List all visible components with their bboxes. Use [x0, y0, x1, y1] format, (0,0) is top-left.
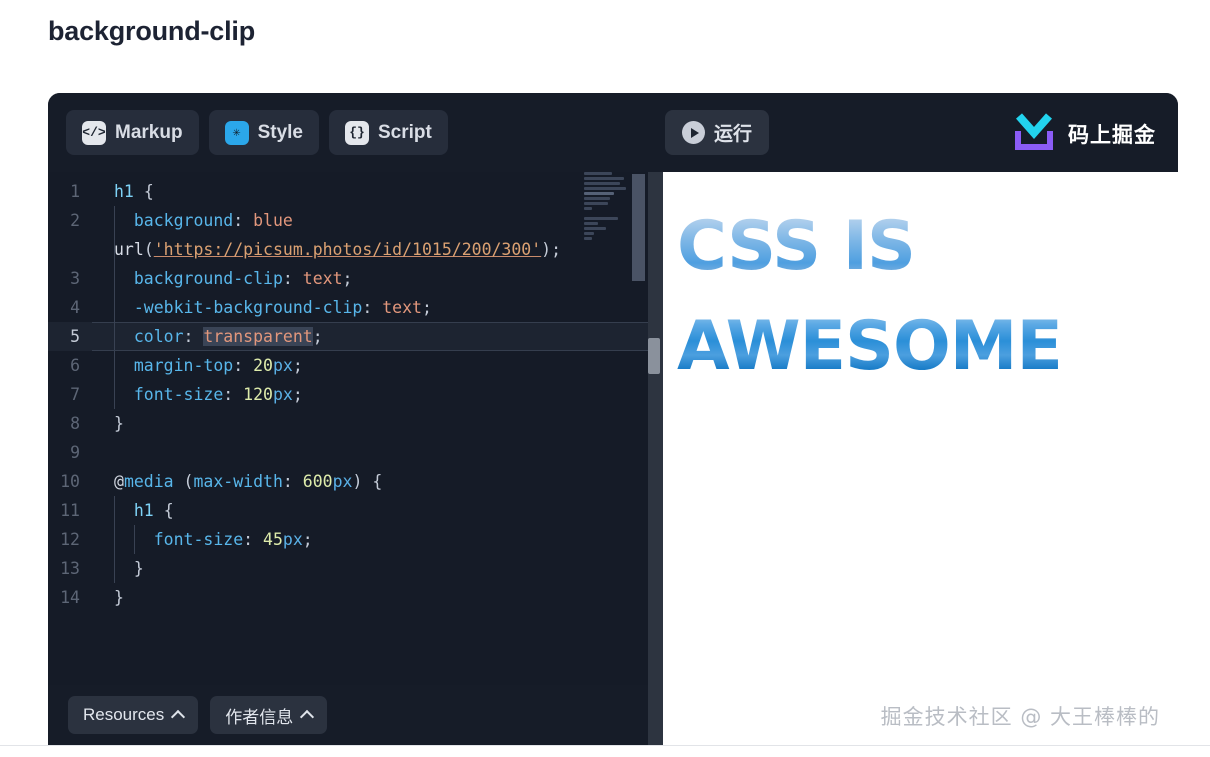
line-number: 8	[48, 409, 92, 438]
code-line[interactable]: 11 h1 {	[48, 496, 648, 525]
code-line[interactable]: 4 -webkit-background-clip: text;	[48, 293, 648, 322]
editor-toolbar: </> Markup ✳ Style {} Script 运行	[48, 93, 1178, 172]
line-content: -webkit-background-clip: text;	[92, 293, 648, 322]
code-line[interactable]: 3 background-clip: text;	[48, 264, 648, 293]
css-code-editor[interactable]: 1 h1 { 2 background: blue url('https://p…	[48, 172, 648, 745]
page-divider	[0, 745, 1210, 746]
line-content: }	[92, 554, 648, 583]
tab-script[interactable]: {} Script	[329, 110, 448, 155]
line-number: 14	[48, 583, 92, 612]
line-content: color: transparent;	[92, 322, 648, 351]
preview-heading-line1: CSS IS	[677, 207, 915, 286]
line-content: font-size: 120px;	[92, 380, 648, 409]
run-button-label: 运行	[714, 119, 752, 146]
line-content: h1 {	[92, 496, 648, 525]
line-content: @media (max-width: 600px) {	[92, 467, 648, 496]
download-arrow-logo-icon	[1012, 111, 1056, 156]
line-number: 4	[48, 293, 92, 322]
line-number: 2	[48, 206, 92, 264]
line-content: background-clip: text;	[92, 264, 648, 293]
run-button[interactable]: 运行	[665, 110, 769, 155]
resources-button-label: Resources	[83, 705, 164, 725]
line-content: margin-top: 20px;	[92, 351, 648, 380]
line-number: 1	[48, 177, 92, 206]
resources-button[interactable]: Resources	[68, 696, 198, 734]
code-lines: 1 h1 { 2 background: blue url('https://p…	[48, 172, 648, 612]
code-line-active[interactable]: 5 color: transparent;	[48, 322, 648, 351]
editor-bottom-bar: Resources 作者信息	[48, 685, 648, 745]
preview-pane: CSS ISAWESOME 掘金技术社区 @ 大王棒棒的	[663, 172, 1178, 745]
line-content: background: blue url('https://picsum.pho…	[92, 206, 648, 264]
line-number: 10	[48, 467, 92, 496]
line-number: 13	[48, 554, 92, 583]
code-icon: </>	[82, 121, 106, 145]
line-number: 5	[48, 322, 92, 351]
line-number: 12	[48, 525, 92, 554]
tab-markup-label: Markup	[115, 122, 183, 144]
tab-style[interactable]: ✳ Style	[209, 110, 319, 155]
code-line[interactable]: 6 margin-top: 20px;	[48, 351, 648, 380]
code-line[interactable]: 7 font-size: 120px;	[48, 380, 648, 409]
code-line[interactable]: 2 background: blue url('https://picsum.p…	[48, 206, 648, 264]
line-content: }	[92, 409, 648, 438]
tab-style-label: Style	[258, 122, 303, 144]
tab-markup[interactable]: </> Markup	[66, 110, 199, 155]
page-title: background-clip	[48, 16, 255, 47]
line-content	[92, 438, 648, 467]
code-line[interactable]: 10 @media (max-width: 600px) {	[48, 467, 648, 496]
panel-splitter[interactable]	[648, 172, 663, 745]
line-content: h1 {	[92, 177, 648, 206]
author-info-button[interactable]: 作者信息	[210, 696, 327, 734]
code-playground-panel: </> Markup ✳ Style {} Script 运行	[48, 93, 1178, 745]
code-line[interactable]: 13 }	[48, 554, 648, 583]
line-content: }	[92, 583, 648, 612]
editor-tabs: </> Markup ✳ Style {} Script	[66, 110, 448, 155]
code-line[interactable]: 12 font-size: 45px;	[48, 525, 648, 554]
tab-script-label: Script	[378, 122, 432, 144]
code-line[interactable]: 1 h1 {	[48, 177, 648, 206]
code-line[interactable]: 8 }	[48, 409, 648, 438]
splitter-drag-handle[interactable]	[648, 338, 660, 374]
asterisk-icon: ✳	[225, 121, 249, 145]
line-number: 11	[48, 496, 92, 525]
brand-label: 码上掘金	[1068, 119, 1156, 149]
line-number: 3	[48, 264, 92, 293]
chevron-up-icon	[300, 709, 314, 723]
preview-watermark: 掘金技术社区 @ 大王棒棒的	[881, 701, 1160, 731]
preview-heading-line2: AWESOME	[677, 307, 1062, 386]
editor-vertical-scrollbar[interactable]	[632, 172, 645, 745]
brand-logo: 码上掘金	[1012, 111, 1156, 156]
author-info-button-label: 作者信息	[225, 703, 293, 728]
scrollbar-thumb[interactable]	[632, 174, 645, 281]
braces-icon: {}	[345, 121, 369, 145]
chevron-up-icon	[171, 709, 185, 723]
play-icon	[682, 121, 705, 144]
line-number: 7	[48, 380, 92, 409]
code-line[interactable]: 14 }	[48, 583, 648, 612]
preview-heading: CSS ISAWESOME	[677, 197, 1157, 397]
line-content: font-size: 45px;	[92, 525, 648, 554]
line-number: 9	[48, 438, 92, 467]
line-number: 6	[48, 351, 92, 380]
code-line[interactable]: 9	[48, 438, 648, 467]
